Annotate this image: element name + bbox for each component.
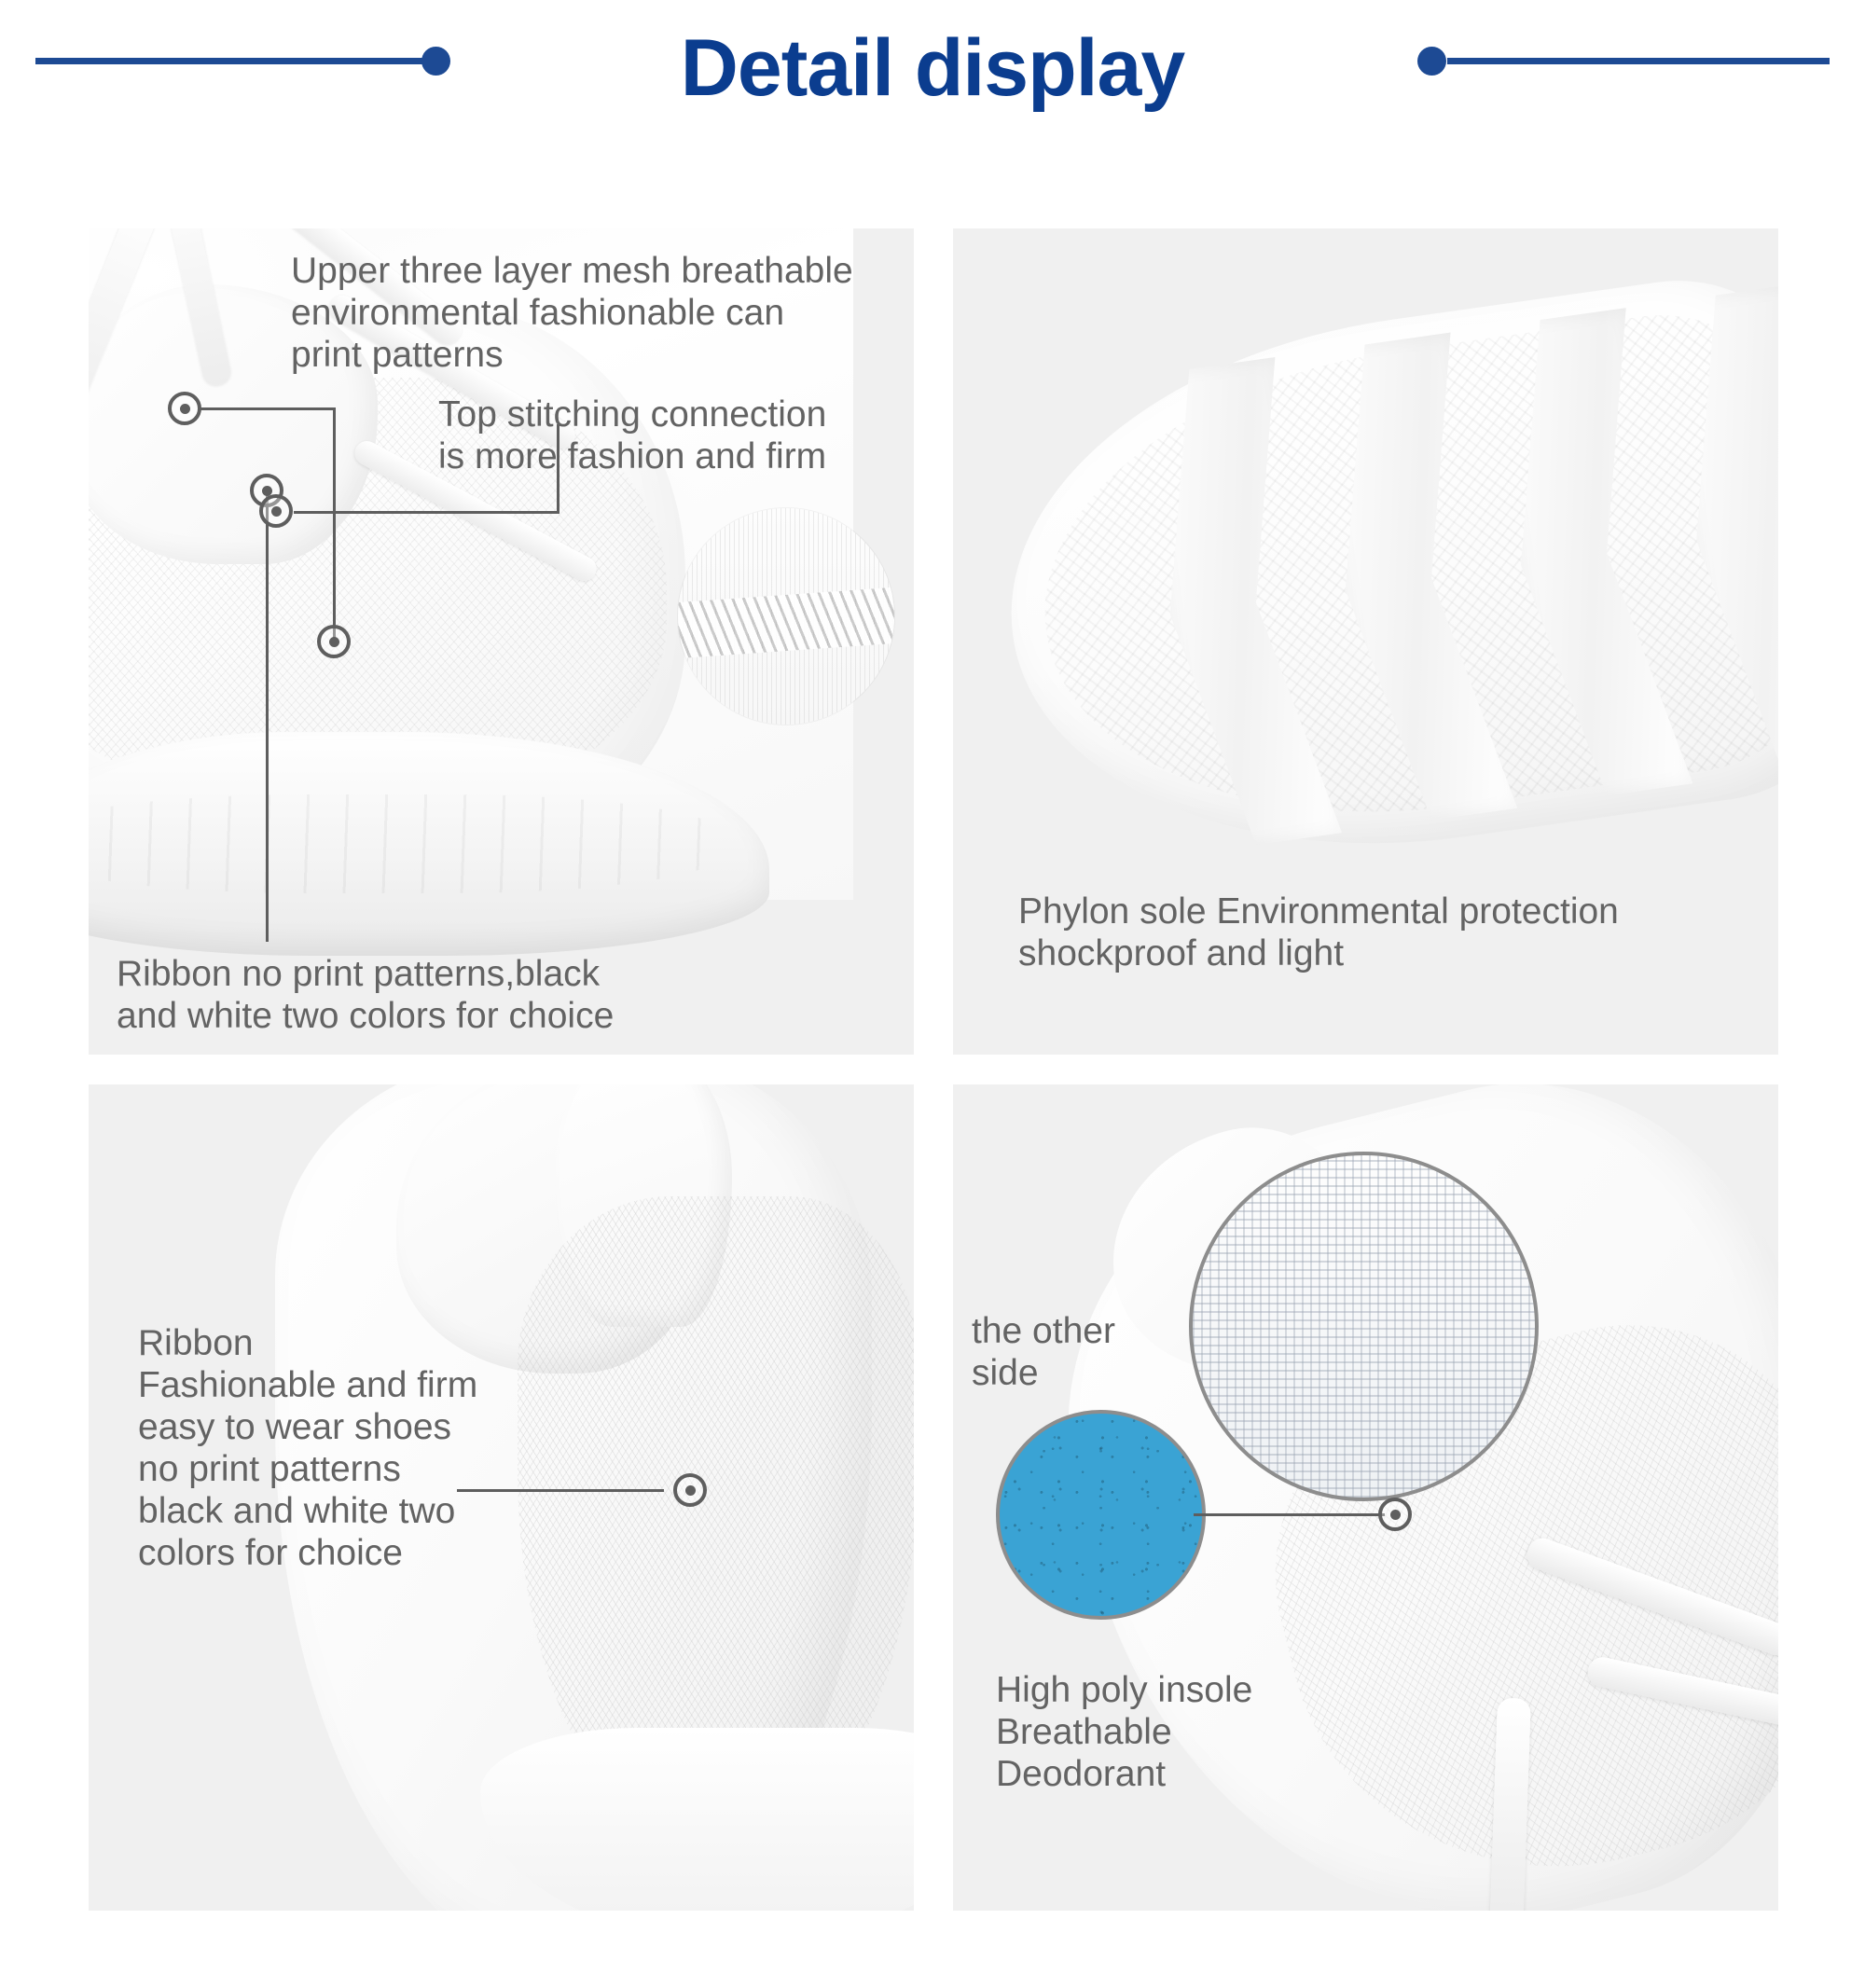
callout-marker-ribbon-detail[interactable] — [673, 1473, 707, 1507]
leader-insole — [1194, 1513, 1385, 1516]
page-title: Detail display — [0, 17, 1865, 119]
mesh-closeup-bubble — [1189, 1152, 1539, 1501]
callout-marker-insole[interactable] — [1378, 1498, 1412, 1531]
annotation-insole: High poly insole Breathable Deodorant — [996, 1669, 1388, 1795]
annotation-ribbon-detail: Ribbon Fashionable and firm easy to wear… — [138, 1322, 530, 1574]
callout-marker-mesh-lower[interactable] — [317, 625, 351, 658]
leader-ribbon-detail — [457, 1489, 664, 1492]
leader-upper-mesh-down — [333, 407, 336, 641]
stitching-closeup-bubble — [678, 508, 894, 725]
header-rule-right — [1447, 58, 1830, 64]
leader-top-stitching — [294, 511, 559, 514]
page-header: Detail display — [0, 0, 1865, 168]
leader-upper-mesh — [200, 407, 336, 410]
annotation-other-side: the other side — [972, 1310, 1214, 1394]
callout-marker-top-stitching[interactable] — [259, 494, 293, 528]
annotation-top-stitching: Top stitching connection is more fashion… — [438, 393, 923, 477]
leader-ribbon-up — [266, 490, 269, 942]
annotation-phylon-sole: Phylon sole Environmental protection sho… — [1018, 890, 1764, 974]
header-dot-right — [1417, 47, 1446, 76]
annotation-upper-mesh: Upper three layer mesh breathable enviro… — [291, 250, 925, 376]
callout-marker-upper-mesh[interactable] — [168, 392, 201, 425]
blue-insole-swatch-bubble — [996, 1410, 1206, 1620]
annotation-ribbon-print: Ribbon no print patterns,black and white… — [117, 953, 695, 1037]
